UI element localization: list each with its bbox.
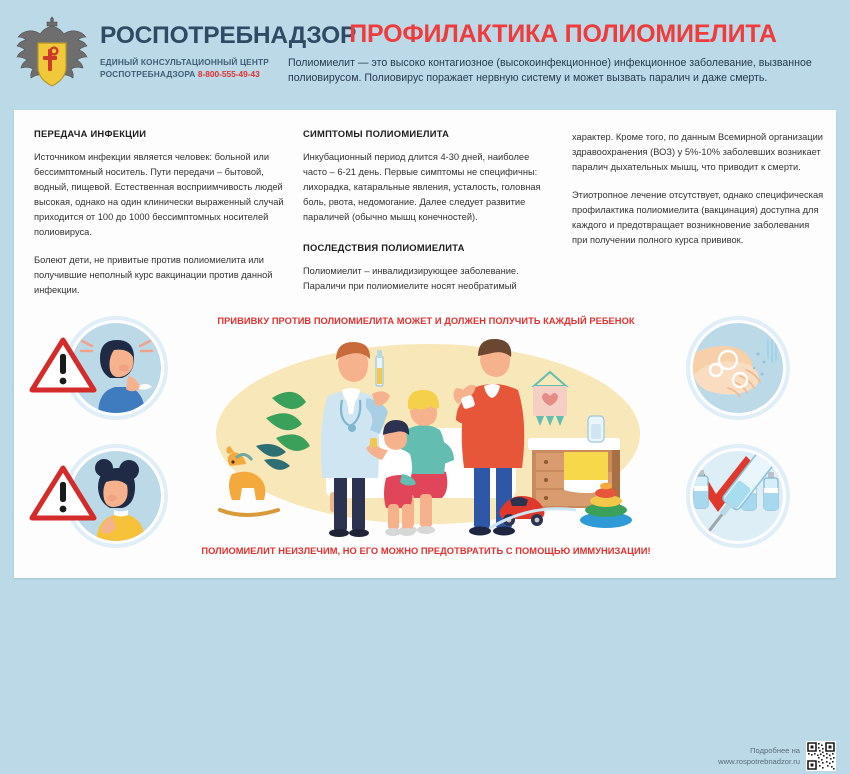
panel-coughing-girl xyxy=(28,438,196,560)
paragraph: Этиотропное лечение отсутствует, однако … xyxy=(572,188,824,248)
panel-coughing-boy xyxy=(28,310,196,432)
paragraph: Полиомиелит – инвалидизирующее заболеван… xyxy=(303,264,555,294)
column-symptoms: СИМПТОМЫ ПОЛИОМИЕЛИТА Инкубационный пери… xyxy=(303,128,555,306)
warning-triangle-icon xyxy=(28,334,98,396)
more-info-line1: Подробнее на xyxy=(718,745,800,756)
brand-sub-line1: ЕДИНЫЙ КОНСУЛЬТАЦИОННЫЙ ЦЕНТР xyxy=(100,56,315,68)
paragraph: Источником инфекции является человек: бо… xyxy=(34,150,286,240)
content-card: ПЕРЕДАЧА ИНФЕКЦИИ Источником инфекции яв… xyxy=(14,110,836,578)
panel-vaccination xyxy=(654,438,822,560)
section-heading-consequences: ПОСЛЕДСТВИЯ ПОЛИОМИЕЛИТА xyxy=(303,242,555,253)
header-text-block: ПРОФИЛАКТИКА ПОЛИОМИЕЛИТА Полиомиелит — … xyxy=(288,22,838,87)
website-url[interactable]: www.rospotrebnadzor.ru xyxy=(718,756,800,767)
page-title: ПРОФИЛАКТИКА ПОЛИОМИЕЛИТА xyxy=(288,22,838,47)
brand-sub-line2-wrap: РОСПОТРЕБНАДЗОРА 8-800-555-49-43 xyxy=(100,68,315,80)
brand-block: РОСПОТРЕБНАДЗОР ЕДИНЫЙ КОНСУЛЬТАЦИОННЫЙ … xyxy=(100,24,315,80)
qr-code[interactable] xyxy=(806,741,836,771)
warning-triangle-icon xyxy=(28,462,98,524)
text-columns: ПЕРЕДАЧА ИНФЕКЦИИ Источником инфекции яв… xyxy=(34,128,824,306)
syringe-vaccine-vials-icon xyxy=(654,438,822,560)
section-heading-transmission: ПЕРЕДАЧА ИНФЕКЦИИ xyxy=(34,128,286,139)
right-icon-column xyxy=(654,310,822,560)
section-heading-symptoms: СИМПТОМЫ ПОЛИОМИЕЛИТА xyxy=(303,128,555,139)
brand-sub-line2: РОСПОТРЕБНАДЗОРА xyxy=(100,69,195,79)
hotline-phone[interactable]: 8-800-555-49-43 xyxy=(198,69,260,79)
column-continuation: характер. Кроме того, по данным Всемирно… xyxy=(572,128,824,306)
column-transmission: ПЕРЕДАЧА ИНФЕКЦИИ Источником инфекции яв… xyxy=(34,128,286,306)
more-info-text: Подробнее на www.rospotrebnadzor.ru xyxy=(718,745,800,768)
intro-paragraph: Полиомиелит — это высоко контагиозное (в… xyxy=(288,56,838,87)
doctor-vaccinating-child-family-scene xyxy=(206,334,646,539)
poster: РОСПОТРЕБНАДЗОР ЕДИНЫЙ КОНСУЛЬТАЦИОННЫЙ … xyxy=(0,0,850,602)
vaccine-vial xyxy=(694,470,708,508)
brand-name: РОСПОТРЕБНАДЗОР xyxy=(100,24,315,49)
left-icon-column xyxy=(28,310,196,560)
paragraph: Инкубационный период длится 4-30 дней, н… xyxy=(303,150,555,225)
poster-header: РОСПОТРЕБНАДЗОР ЕДИНЫЙ КОНСУЛЬТАЦИОННЫЙ … xyxy=(0,0,850,104)
russian-double-headed-eagle-emblem xyxy=(10,9,94,97)
brand-subtitle: ЕДИНЫЙ КОНСУЛЬТАЦИОННЫЙ ЦЕНТР РОСПОТРЕБН… xyxy=(100,56,315,81)
panel-handwashing xyxy=(654,310,822,432)
paragraph: характер. Кроме того, по данным Всемирно… xyxy=(572,130,824,175)
vaccine-vial xyxy=(764,472,778,510)
illustration-band: ПРИВИВКУ ПРОТИВ ПОЛИОМИЕЛИТА МОЖЕТ И ДОЛ… xyxy=(14,306,836,578)
more-info-note: Подробнее на www.rospotrebnadzor.ru xyxy=(706,738,836,774)
banner-bottom-text: ПОЛИОМИЕЛИТ НЕИЗЛЕЧИМ, НО ЕГО МОЖНО ПРЕД… xyxy=(200,546,652,556)
banner-top-text: ПРИВИВКУ ПРОТИВ ПОЛИОМИЕЛИТА МОЖЕТ И ДОЛ… xyxy=(200,316,652,326)
paragraph: Болеют дети, не привитые против полиомие… xyxy=(34,253,286,298)
handwashing-icon xyxy=(654,310,822,432)
center-illustration: ПРИВИВКУ ПРОТИВ ПОЛИОМИЕЛИТА МОЖЕТ И ДОЛ… xyxy=(206,306,646,574)
